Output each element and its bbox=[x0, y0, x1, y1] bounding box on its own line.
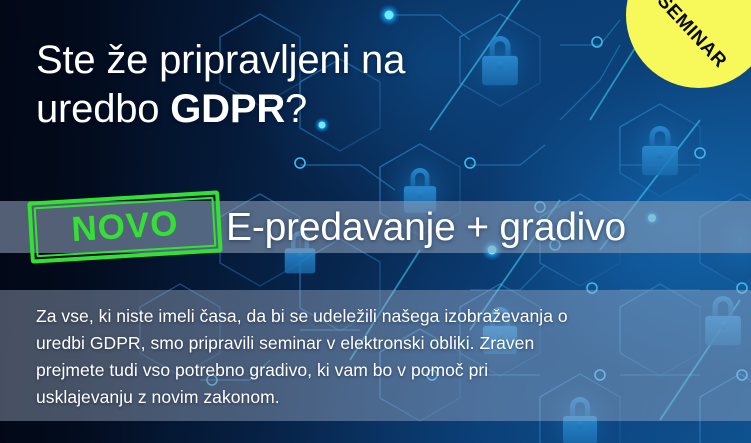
headline-line-2-prefix: uredbo bbox=[36, 87, 170, 131]
description-text: Za vse, ki niste imeli časa, da bi se ud… bbox=[36, 303, 726, 411]
headline-line-2-suffix: ? bbox=[285, 87, 307, 131]
headline-line-1: Ste že pripravljeni na bbox=[36, 38, 405, 82]
description-line-3: prejmete tudi vso potrebno gradivo, ki v… bbox=[36, 357, 726, 384]
gdpr-seminar-banner: SEMINAR Ste že pripravljeni na uredbo GD… bbox=[0, 0, 751, 443]
page-title: Ste že pripravljeni na uredbo GDPR? bbox=[36, 36, 596, 134]
novo-stamp: NOVO bbox=[27, 190, 222, 263]
description-line-4: usklajevanju z novim zakonom. bbox=[36, 384, 726, 411]
novo-stamp-label: NOVO bbox=[27, 190, 222, 263]
headline-gdpr: GDPR bbox=[170, 87, 285, 131]
description-line-2: uredbi GDPR, smo pripravili seminar v el… bbox=[36, 330, 726, 357]
description-line-1: Za vse, ki niste imeli časa, da bi se ud… bbox=[36, 303, 726, 330]
offer-title: E-predavanje + gradivo bbox=[226, 207, 626, 249]
